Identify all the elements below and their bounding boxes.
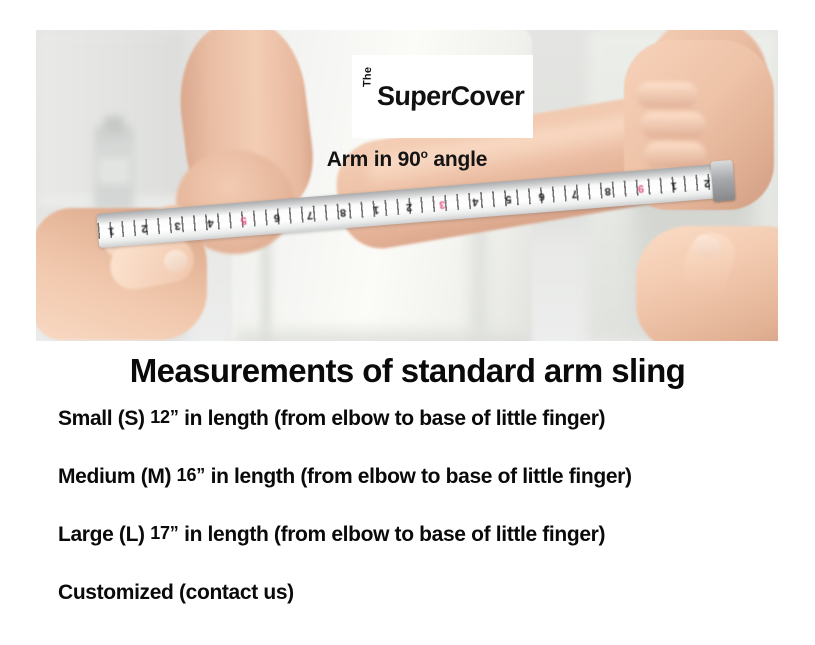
arm-angle-caption-suffix: angle	[433, 148, 487, 171]
arm-angle-caption: Arm in 90o angle	[36, 148, 778, 172]
spec-size-label: Small (S)	[58, 407, 145, 430]
spec-description: in length (from elbow to base of little …	[211, 465, 632, 488]
spec-length-value: 16”	[177, 465, 205, 485]
tape-number: 2	[405, 197, 413, 217]
measurement-spec-line: Large (L) 17” in length (from elbow to b…	[58, 523, 778, 547]
brand-logo: The SuperCover	[352, 55, 533, 138]
brand-logo-name: SuperCover	[360, 81, 524, 112]
tape-number: 5	[505, 189, 513, 209]
tape-number: 7	[571, 183, 579, 203]
spec-size-label: Large (L)	[58, 523, 145, 546]
page-root: 2198765432187654321 The SuperCover Arm i…	[0, 0, 815, 645]
page-title: Measurements of standard arm sling	[0, 352, 815, 390]
measurement-spec-list: Small (S) 12” in length (from elbow to b…	[58, 407, 778, 605]
shirt-hem	[236, 326, 526, 341]
knuckle-2	[640, 112, 706, 138]
knuckle-1	[636, 82, 698, 108]
measurement-spec-line: Medium (M) 16” in length (from elbow to …	[58, 465, 778, 489]
tape-number: 7	[306, 205, 314, 225]
tape-number: 2	[703, 173, 711, 193]
tape-number: 1	[372, 199, 380, 219]
arm-measurement-photo: 2198765432187654321 The SuperCover Arm i…	[36, 30, 778, 341]
spec-description: in length (from elbow to base of little …	[184, 407, 605, 430]
tape-number: 4	[472, 191, 480, 211]
photo-background-bottle-cap	[104, 116, 124, 132]
tape-number: 9	[637, 178, 645, 198]
degree-symbol-icon: o	[421, 147, 428, 161]
spec-description: in length (from elbow to base of little …	[184, 523, 605, 546]
tape-number: 3	[438, 194, 446, 214]
tape-number: 8	[339, 202, 347, 222]
brand-logo-the: The	[361, 67, 374, 87]
tape-number: 1	[107, 221, 115, 241]
tape-number: 6	[273, 207, 281, 227]
tape-number: 6	[538, 186, 546, 206]
measurement-spec-line: Customized (contact us)	[58, 581, 778, 605]
tape-number: 3	[174, 215, 182, 235]
tape-number: 5	[240, 210, 248, 230]
arm-angle-caption-prefix: Arm in 90	[327, 148, 421, 171]
spec-size-label: Customized (contact us)	[58, 581, 294, 604]
brand-logo-lockup: The SuperCover	[360, 81, 524, 112]
spec-size-label: Medium (M)	[58, 465, 171, 488]
measurement-spec-line: Small (S) 12” in length (from elbow to b…	[58, 407, 778, 431]
tape-number: 1	[670, 175, 678, 195]
tape-number: 4	[207, 213, 215, 233]
spec-length-value: 12”	[150, 407, 178, 427]
spec-length-value: 17”	[150, 523, 178, 543]
tape-number: 2	[141, 218, 149, 238]
tape-number: 8	[604, 181, 612, 201]
